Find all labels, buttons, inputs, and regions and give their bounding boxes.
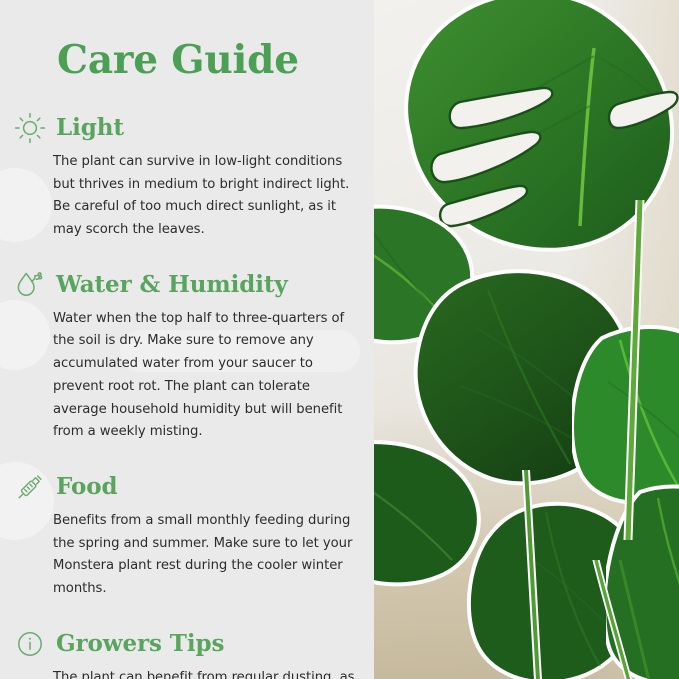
section-header: Growers Tips [12, 627, 374, 661]
care-section-growers-tips: Growers Tips The plant can benefit from … [0, 627, 374, 679]
monstera-plant-photo [374, 0, 679, 679]
care-guide-page: Care Guide [0, 0, 679, 679]
info-circle-icon [12, 627, 48, 661]
section-body-growers-tips: The plant can benefit from regular dusti… [53, 667, 356, 679]
section-header: Food [12, 470, 374, 504]
section-body-water: Water when the top half to three-quarter… [53, 308, 356, 444]
syringe-icon [12, 470, 48, 504]
care-guide-panel: Care Guide [0, 0, 374, 679]
section-header: Light [12, 111, 374, 145]
section-title-water: Water & Humidity [56, 273, 288, 296]
section-body-light: The plant can survive in low-light condi… [53, 151, 356, 242]
section-title-food: Food [56, 475, 117, 498]
plant-stem-right [610, 200, 670, 540]
care-section-food: Food Benefits from a small monthly feedi… [0, 470, 374, 601]
care-section-water: Water & Humidity Water when the top half… [0, 268, 374, 444]
page-title: Care Guide [0, 0, 374, 81]
sun-icon [12, 111, 48, 145]
water-drop-icon [12, 268, 48, 302]
plant-stem-center [504, 470, 564, 679]
section-title-light: Light [56, 116, 124, 139]
care-section-light: Light The plant can survive in low-light… [0, 111, 374, 242]
section-header: Water & Humidity [12, 268, 374, 302]
section-body-food: Benefits from a small monthly feeding du… [53, 510, 356, 601]
section-title-growers-tips: Growers Tips [56, 632, 224, 655]
plant-stem-lower-right [586, 560, 656, 679]
